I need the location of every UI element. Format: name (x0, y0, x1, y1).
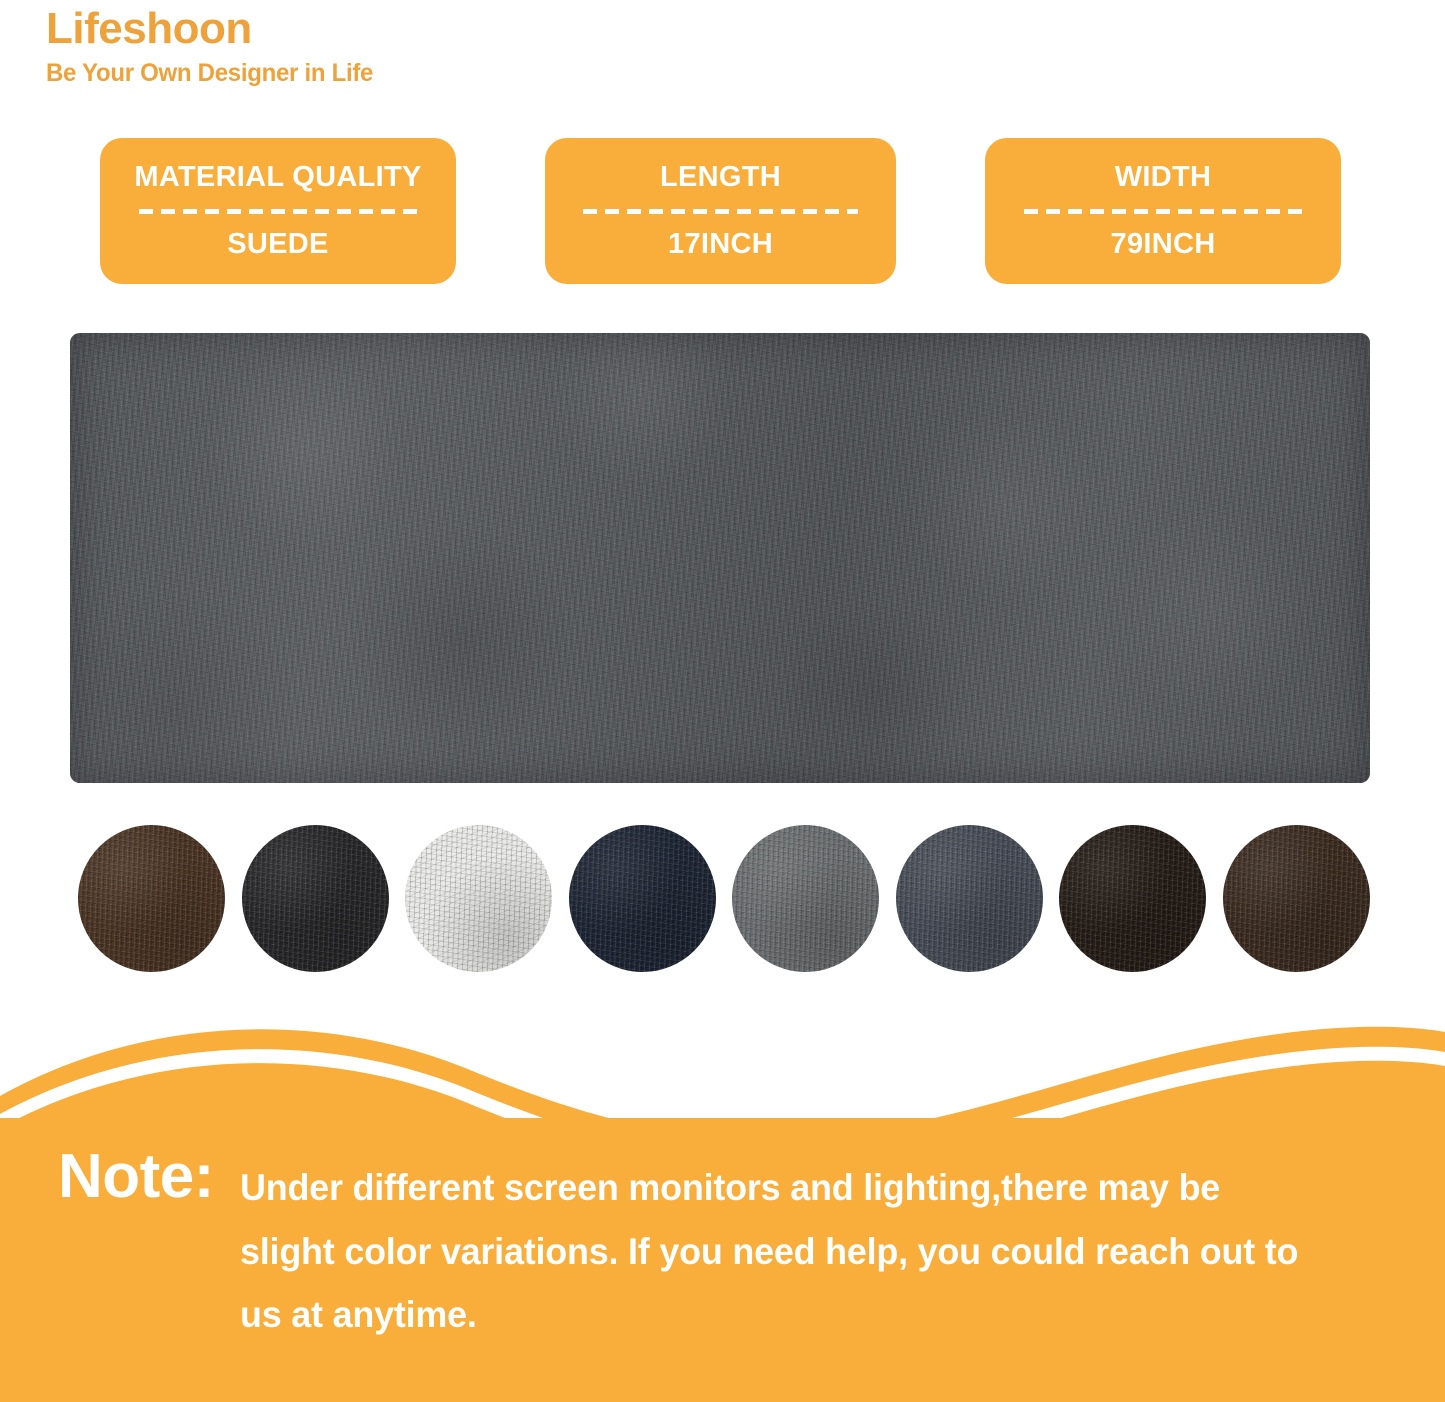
swatch-texture (896, 825, 1043, 972)
spec-card-title: MATERIAL QUALITY (134, 163, 421, 192)
swatch-texture (1059, 825, 1206, 972)
spec-card-value: SUEDE (227, 230, 328, 259)
spec-card-length: LENGTH 17INCH (545, 138, 896, 284)
note-label: Note: (58, 1146, 214, 1208)
brand-name: Lifeshoon (46, 6, 746, 52)
swatch-texture (732, 825, 879, 972)
color-swatch[interactable] (242, 825, 389, 972)
brand-tagline: Be Your Own Designer in Life (46, 60, 718, 88)
dashed-divider (1024, 209, 1303, 214)
swatch-texture (405, 825, 552, 972)
color-swatch[interactable] (896, 825, 1043, 972)
note-band: Note: Under different screen monitors an… (0, 1118, 1445, 1402)
swatch-texture (242, 825, 389, 972)
swatch-texture (569, 825, 716, 972)
note-content: Note: Under different screen monitors an… (58, 1146, 1408, 1347)
color-swatch[interactable] (405, 825, 552, 972)
color-swatch[interactable] (1223, 825, 1370, 972)
product-infographic: Lifeshoon Be Your Own Designer in Life M… (0, 0, 1445, 1402)
dashed-divider (583, 209, 857, 214)
color-swatch-row (78, 825, 1368, 973)
brand-header: Lifeshoon Be Your Own Designer in Life (46, 6, 746, 88)
color-swatch[interactable] (569, 825, 716, 972)
swatch-texture (1223, 825, 1370, 972)
note-text: Under different screen monitors and ligh… (240, 1146, 1317, 1347)
spec-card-title: LENGTH (660, 163, 781, 192)
spec-card-title: WIDTH (1115, 163, 1212, 192)
rug-vignette (70, 333, 1370, 783)
spec-card-row: MATERIAL QUALITY SUEDE LENGTH 17INCH WID… (0, 138, 1445, 284)
spec-card-width: WIDTH 79INCH (985, 138, 1341, 284)
color-swatch[interactable] (732, 825, 879, 972)
color-swatch[interactable] (1059, 825, 1206, 972)
spec-card-value: 17INCH (668, 230, 773, 259)
swatch-texture (78, 825, 225, 972)
spec-card-value: 79INCH (1111, 230, 1216, 259)
spec-card-material-quality: MATERIAL QUALITY SUEDE (100, 138, 456, 284)
product-rug-image (70, 333, 1370, 783)
dashed-divider (139, 209, 418, 214)
color-swatch[interactable] (78, 825, 225, 972)
